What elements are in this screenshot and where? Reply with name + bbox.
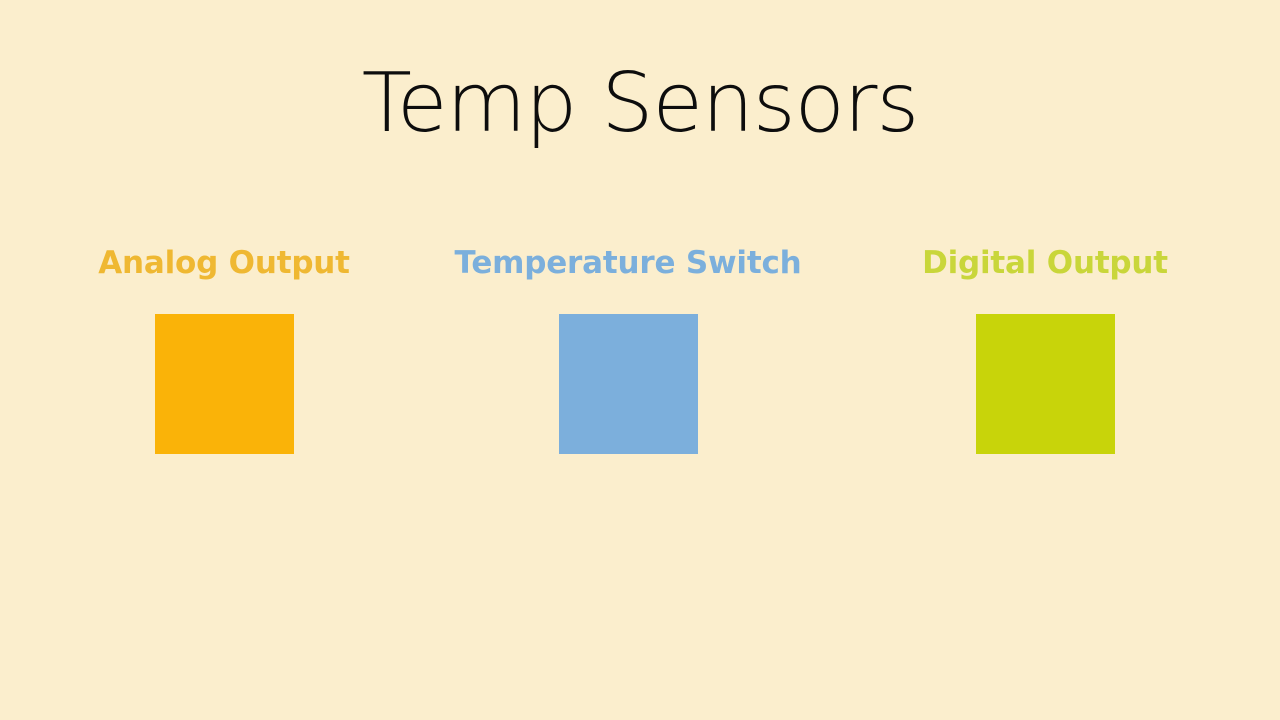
page-title: Temp Sensors: [0, 63, 1280, 145]
sensor-swatch-switch: [559, 314, 698, 454]
sensor-swatch-digital: [976, 314, 1115, 454]
sensor-label-switch: Temperature Switch: [418, 248, 838, 279]
sensor-label-digital: Digital Output: [835, 248, 1255, 279]
sensor-column-analog: Analog Output: [14, 248, 434, 454]
sensor-label-analog: Analog Output: [14, 248, 434, 279]
sensor-column-digital: Digital Output: [835, 248, 1255, 454]
sensor-column-switch: Temperature Switch: [418, 248, 838, 454]
sensor-swatch-analog: [155, 314, 294, 454]
slide-canvas: Temp Sensors Analog Output Temperature S…: [0, 0, 1280, 720]
